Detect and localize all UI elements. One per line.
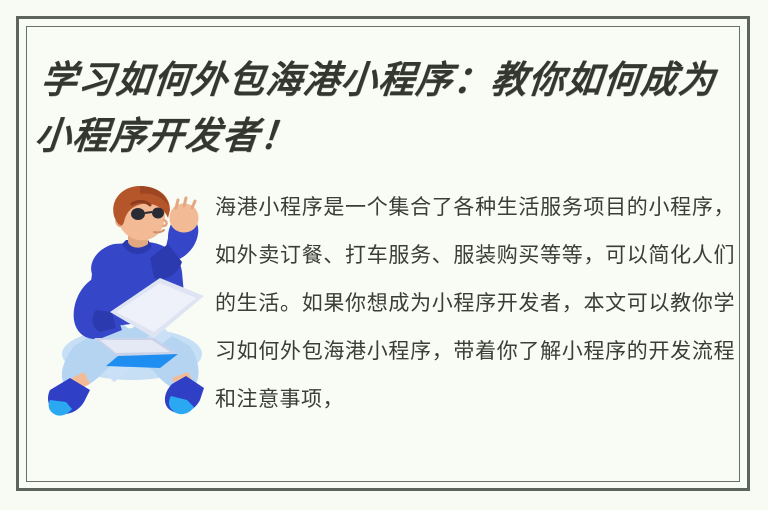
hand-raised — [169, 203, 198, 232]
glasses-bridge — [145, 212, 152, 213]
article-card-page: 学习如何外包海港小程序：教你如何成为小程序开发者！ — [0, 0, 768, 510]
article-title: 学习如何外包海港小程序：教你如何成为小程序开发者！ — [32, 52, 734, 164]
glasses-lens-left — [131, 208, 145, 220]
article-body: 海港小程序是一个集合了各种生活服务项目的小程序，如外卖订餐、打车服务、服装购买等… — [215, 183, 735, 483]
glasses-lens-right — [152, 208, 164, 219]
illustration-man-with-laptop — [44, 186, 216, 436]
